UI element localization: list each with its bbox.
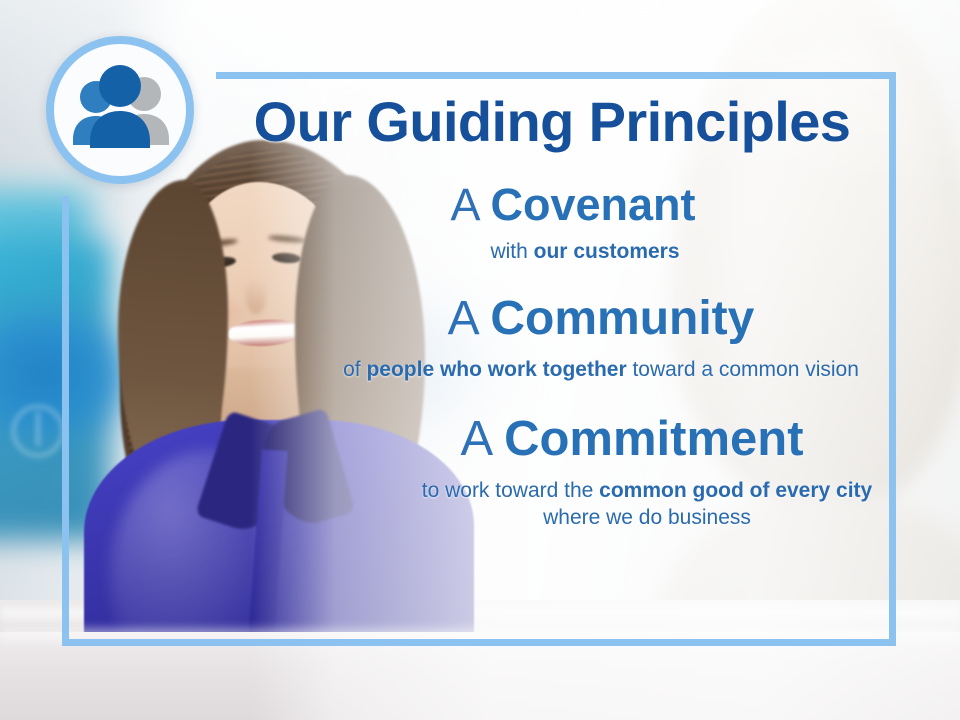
- principle-covenant-sub-lead: with: [490, 240, 533, 263]
- principle-commitment-keyword: Commitment: [504, 412, 803, 466]
- page-title: Our Guiding Principles: [216, 93, 888, 152]
- principle-commitment-subtitle: to work toward the common good of every …: [250, 477, 896, 532]
- principle-commitment-sub-bold: common good of every city: [599, 479, 872, 502]
- guiding-principles-graphic: FLOW AUTOMOTIVE FLOW: [0, 0, 960, 720]
- principle-commitment: A Commitment to work toward the common g…: [250, 413, 896, 531]
- principles-list: A Covenant with our customers A Communit…: [250, 180, 896, 537]
- principle-commitment-sub-tail: where we do business: [543, 506, 751, 529]
- frame-border-top: [216, 72, 896, 79]
- principle-community-article: A: [448, 292, 491, 345]
- principle-commitment-sub-lead: to work toward the: [422, 479, 599, 502]
- principle-covenant-keyword: Covenant: [491, 179, 696, 230]
- principle-commitment-title: A Commitment: [250, 413, 896, 467]
- principle-community-sub-bold: people who work together: [366, 358, 626, 381]
- principle-community-title: A Community: [250, 293, 896, 346]
- people-group-icon: [66, 58, 174, 162]
- principle-community-sub-lead: of: [343, 358, 366, 381]
- vw-roundel-icon: [12, 405, 64, 457]
- principle-community-sub-tail: toward a common vision: [627, 358, 859, 381]
- principle-community-subtitle: of people who work together toward a com…: [250, 356, 896, 383]
- principle-covenant-subtitle: with our customers: [250, 238, 896, 265]
- principle-community: A Community of people who work together …: [250, 293, 896, 383]
- frame-border-left: [62, 196, 69, 646]
- principle-covenant: A Covenant with our customers: [250, 180, 896, 265]
- principle-community-keyword: Community: [490, 292, 754, 345]
- principle-covenant-sub-bold: our customers: [534, 240, 680, 263]
- principle-covenant-article: A: [450, 179, 490, 230]
- frame-border-bottom: [62, 639, 896, 646]
- principle-covenant-title: A Covenant: [250, 180, 896, 230]
- principle-commitment-article: A: [460, 412, 504, 466]
